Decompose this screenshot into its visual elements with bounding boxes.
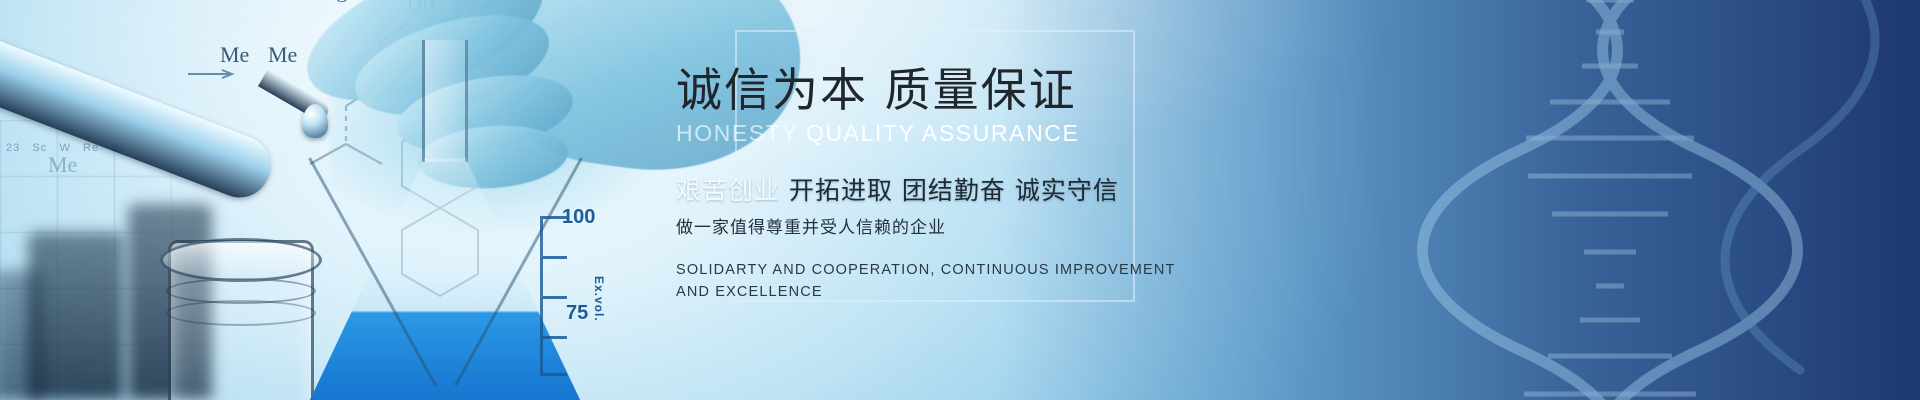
subtitle-english-honesty: HONESTY — [676, 120, 806, 146]
slogan-segment-2: 开拓进取 — [789, 176, 902, 205]
subtitle-english-quality: QUALITY ASSURANCE — [806, 120, 1079, 146]
hero-text-block: 诚信为本 质量保证 HONESTY QUALITY ASSURANCE 艰苦创业… — [676, 62, 1096, 304]
tagline: 做一家值得尊重并受人信赖的企业 — [676, 213, 1096, 238]
hero-banner: 23 Sc W Re Bh OH O Me Me Me — [0, 0, 1920, 400]
slogan-segment-4: 诚实守信 — [1015, 176, 1119, 205]
footer-english: SOLIDARTY AND COOPERATION, CONTINUOUS IM… — [676, 260, 1096, 304]
dna-double-helix — [1400, 0, 1920, 400]
footer-english-line-2: AND EXCELLENCE — [676, 282, 1096, 304]
subtitle-english: HONESTY QUALITY ASSURANCE — [676, 120, 1096, 147]
footer-english-line-1: SOLIDARTY AND COOPERATION, CONTINUOUS IM… — [676, 260, 1096, 282]
slogan-segment-3: 团结勤奋 — [902, 176, 1015, 205]
page-title: 诚信为本 质量保证 — [676, 62, 1096, 118]
slogan-segment-1: 艰苦创业 — [676, 176, 789, 205]
slogan-line: 艰苦创业 开拓进取 团结勤奋 诚实守信 — [676, 171, 1096, 207]
